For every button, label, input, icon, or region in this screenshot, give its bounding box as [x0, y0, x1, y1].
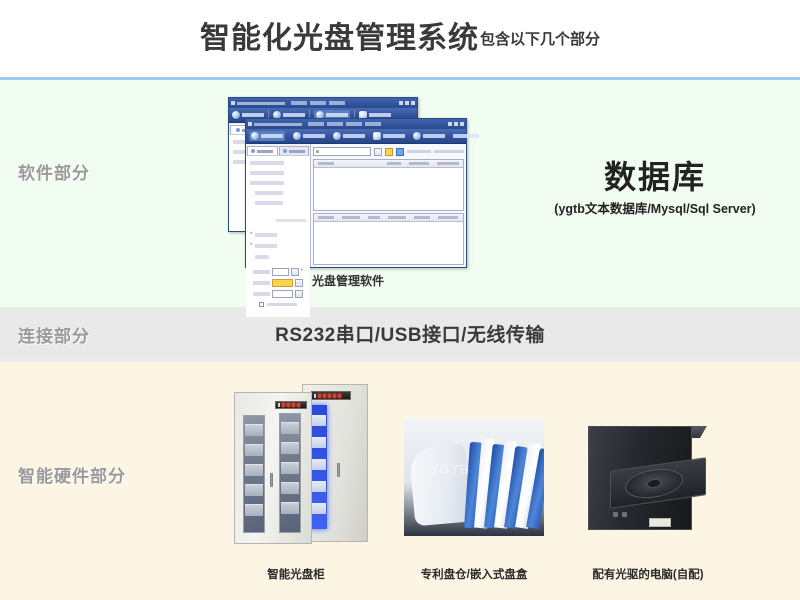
required-field-row: * [250, 243, 306, 249]
infographic-page: 智能化光盘管理系统 包含以下几个部分 软件部分 连接部分 智能硬件部分 [0, 0, 800, 600]
folder-icon[interactable] [385, 148, 393, 156]
window-title-bar [246, 119, 466, 129]
panel-tab-disc-info[interactable] [247, 146, 278, 155]
toolbar-button-exit[interactable] [453, 134, 479, 138]
cabinet-led-display [275, 401, 307, 409]
window-toolbar[interactable] [246, 129, 466, 144]
toolbar-button-disc-out[interactable] [293, 132, 325, 140]
form-checkbox-row[interactable] [253, 302, 303, 307]
hardware-section-label: 智能硬件部分 [18, 462, 126, 487]
toolbar-button-disc-query[interactable] [333, 132, 365, 140]
window-menu-bar[interactable] [308, 122, 381, 126]
pc-badge [649, 518, 671, 527]
database-title: 数据库 [520, 160, 790, 195]
checkbox[interactable] [259, 302, 264, 307]
window-app-icon [231, 101, 235, 105]
software-screenshot-group: * * * * [228, 97, 468, 269]
cabinet-door-handle [337, 463, 340, 477]
window-app-icon [248, 122, 252, 126]
window-controls[interactable] [399, 101, 415, 105]
required-field-row: * [250, 232, 306, 238]
disc-tray-bin-image: YGTB [404, 418, 544, 536]
search-button[interactable] [374, 148, 382, 156]
software-section-label: 软件部分 [18, 159, 90, 184]
search-input[interactable] [313, 147, 371, 156]
watermark: YGTB [430, 462, 470, 477]
data-grid-top[interactable] [313, 159, 464, 211]
pc-front-ports [613, 512, 627, 517]
toolbar-button-disc-in[interactable] [249, 131, 285, 141]
header-title-group: 智能化光盘管理系统 包含以下几个部分 [0, 0, 800, 77]
search-status-text [407, 150, 464, 153]
window-menu-bar [291, 101, 345, 105]
tray-body-front [409, 444, 472, 527]
app-window-front: * * * * [245, 118, 467, 268]
page-header: 智能化光盘管理系统 包含以下几个部分 [0, 0, 800, 80]
disc-cabinet-image [216, 378, 376, 553]
refresh-icon[interactable] [396, 148, 404, 156]
field-row: * [250, 254, 306, 260]
form-row-field-3[interactable] [253, 290, 303, 298]
window-title-text [254, 123, 302, 126]
data-grid-header [314, 160, 463, 168]
cabinet-led-display [311, 391, 351, 400]
search-bar[interactable] [313, 146, 464, 157]
software-screenshot-caption: 光盘管理软件 [228, 272, 468, 289]
hardware-caption-0: 智能光盘柜 [216, 566, 376, 582]
database-subtitle: (ygtb文本数据库/Mysql/Sql Server) [520, 198, 790, 217]
cabinet-door-handle [270, 473, 273, 487]
window-title-bar [229, 98, 417, 108]
panel-tab-strip[interactable] [246, 144, 310, 155]
window-controls[interactable] [448, 122, 464, 126]
data-grid-body [314, 222, 463, 264]
hardware-caption-2: 配有光驱的电脑(自配) [570, 566, 726, 582]
toolbar-button-system-settings[interactable] [373, 132, 405, 140]
page-title: 智能化光盘管理系统 [200, 24, 479, 54]
connection-section-label: 连接部分 [18, 322, 90, 347]
data-grid-body [314, 168, 463, 210]
hardware-caption-1: 专利盘仓/嵌入式盘盒 [398, 566, 550, 582]
window-content-area [311, 144, 466, 267]
page-subtitle: 包含以下几个部分 [480, 32, 600, 77]
data-grid-header [314, 214, 463, 222]
toolbar-button-help[interactable] [413, 132, 445, 140]
cabinet-glass-door-right [279, 413, 301, 533]
cabinet-left [234, 392, 312, 544]
data-grid-bottom[interactable] [313, 213, 464, 265]
panel-field-list: * * * * [246, 155, 310, 317]
computer-with-optical-drive-image [574, 418, 722, 536]
database-block: 数据库 (ygtb文本数据库/Mysql/Sql Server) [520, 160, 790, 217]
window-left-panel: * * * * [246, 144, 311, 267]
connection-text: RS232串口/USB接口/无线传输 [200, 320, 620, 347]
cabinet-glass-door-left [243, 415, 265, 533]
disc-platter [625, 465, 683, 501]
window-title-text [237, 102, 285, 105]
window-body: * * * * [246, 144, 466, 267]
panel-tab-borrow-info[interactable] [279, 146, 310, 155]
